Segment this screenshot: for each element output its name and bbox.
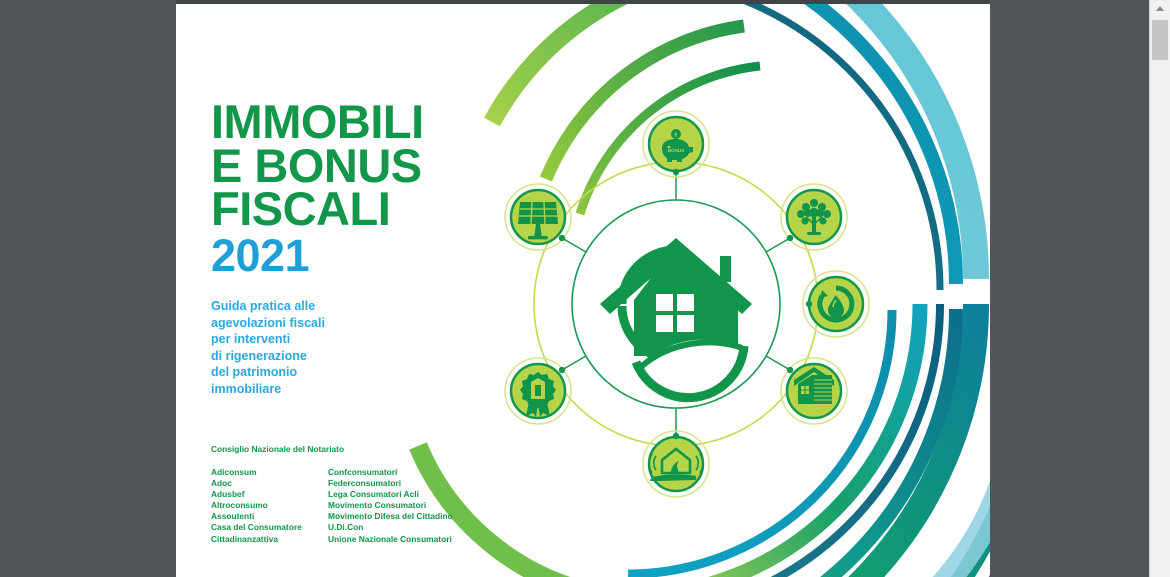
subtitle-line: del patrimonio	[211, 364, 441, 381]
scrollbar-thumb[interactable]	[1152, 20, 1168, 60]
list-item: Adusbef	[211, 489, 328, 500]
vertical-scrollbar[interactable]	[1149, 0, 1170, 577]
list-item: U.Di.Con	[328, 522, 518, 533]
node-solar-panel[interactable]	[505, 184, 571, 250]
list-item: Cittadinanzattiva	[211, 534, 328, 545]
list-item: Movimento Consumatori	[328, 500, 518, 511]
subtitle-line: Guida pratica alle	[211, 298, 441, 315]
list-item: Assoutenti	[211, 511, 328, 522]
pdf-viewer: IMMOBILI E BONUS FISCALI 2021 Guida prat…	[0, 0, 1170, 577]
subtitle: Guida pratica alle agevolazioni fiscali …	[211, 298, 441, 397]
list-item: Adiconsum	[211, 467, 328, 478]
node-label: BONUS	[668, 148, 685, 153]
subtitle-line: immobiliare	[211, 381, 441, 398]
node-water-recycle[interactable]	[803, 271, 869, 337]
scroll-up-button[interactable]	[1150, 0, 1170, 17]
footer-organizations: Consiglio Nazionale del Notariato Adicon…	[211, 444, 521, 545]
list-item: Casa del Consumatore	[211, 522, 328, 533]
subtitle-line: per interventi	[211, 331, 441, 348]
node-piggy-bank-bonus[interactable]: € BONUS	[643, 111, 709, 177]
footer-column-right: Confconsumatori Federconsumatori Lega Co…	[328, 467, 518, 545]
house-leaf-icon	[600, 238, 752, 398]
list-item: Unione Nazionale Consumatori	[328, 534, 518, 545]
node-tree[interactable]	[781, 184, 847, 250]
list-item: Federconsumatori	[328, 478, 518, 489]
list-item: Lega Consumatori Acli	[328, 489, 518, 500]
subtitle-line: agevolazioni fiscali	[211, 315, 441, 332]
list-item: Adoc	[211, 478, 328, 489]
node-hand-house-comfort[interactable]	[643, 431, 709, 497]
subtitle-line: di rigenerazione	[211, 348, 441, 365]
chevron-up-icon	[1156, 6, 1164, 11]
node-energy-award[interactable]	[505, 358, 571, 424]
node-house-insulation[interactable]	[781, 358, 847, 424]
svg-text:€: €	[674, 133, 677, 139]
list-item: Altroconsumo	[211, 500, 328, 511]
pdf-page[interactable]: IMMOBILI E BONUS FISCALI 2021 Guida prat…	[176, 4, 990, 577]
list-item: Movimento Difesa del Cittadino	[328, 511, 518, 522]
footer-column-left: Adiconsum Adoc Adusbef Altroconsumo Asso…	[211, 467, 328, 545]
list-item: Confconsumatori	[328, 467, 518, 478]
footer-columns: Adiconsum Adoc Adusbef Altroconsumo Asso…	[211, 467, 521, 545]
infographic: € BONUS	[476, 104, 876, 504]
footer-heading: Consiglio Nazionale del Notariato	[211, 444, 521, 454]
